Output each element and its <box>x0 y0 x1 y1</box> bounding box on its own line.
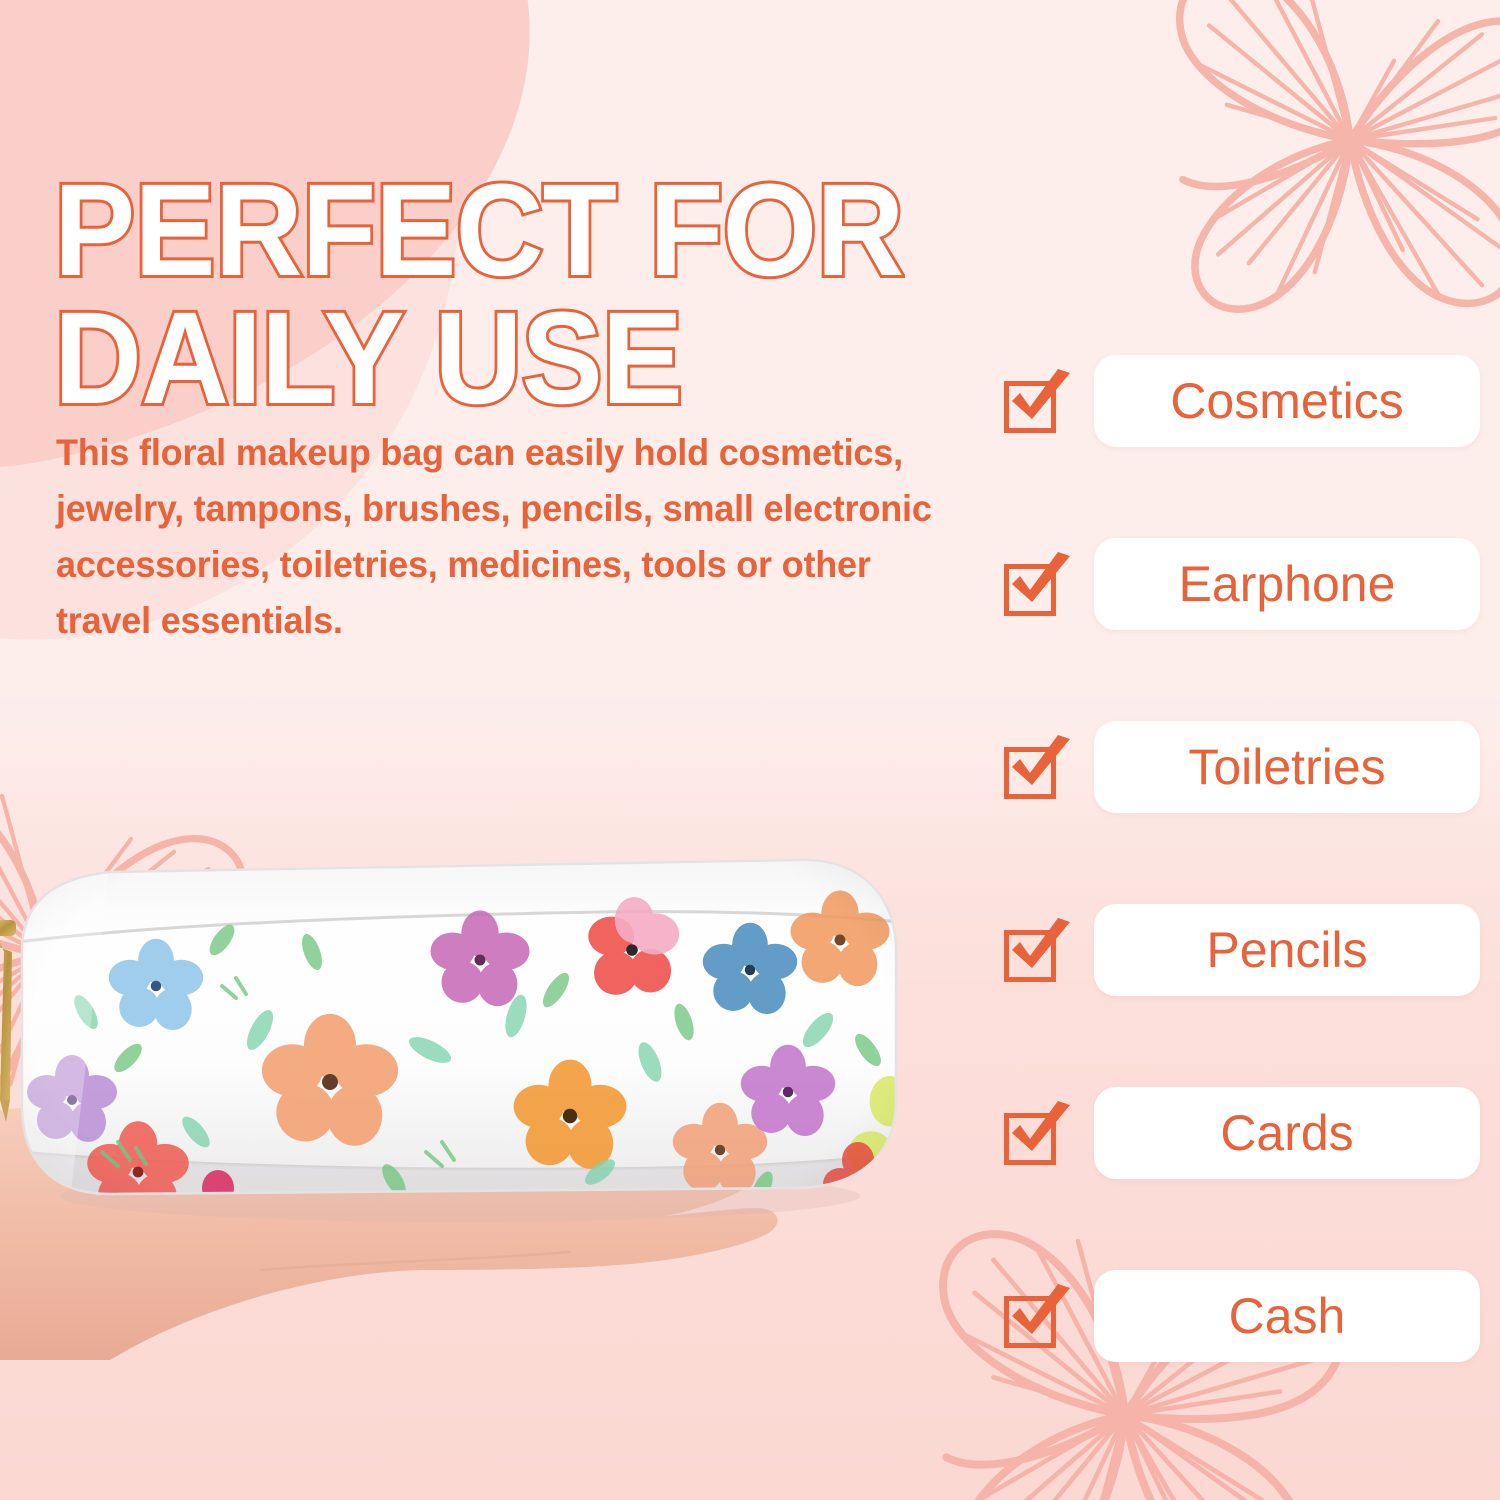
checklist-pill[interactable]: Cards <box>1094 1087 1480 1179</box>
checklist-pill[interactable]: Earphone <box>1094 538 1480 630</box>
checkbox-checked-icon[interactable] <box>1000 1282 1074 1350</box>
hibiscus-flower-icon <box>1130 0 1500 360</box>
checkbox-checked-icon[interactable] <box>1000 1099 1074 1167</box>
checklist-item[interactable]: Pencils <box>1000 901 1480 999</box>
checklist-pill[interactable]: Pencils <box>1094 904 1480 996</box>
zipper-pull <box>0 920 16 1122</box>
checklist-label: Cards <box>1214 1104 1359 1162</box>
checkbox-checked-icon[interactable] <box>1000 367 1074 435</box>
checkbox-checked-icon[interactable] <box>1000 550 1074 618</box>
product-image <box>0 800 970 1360</box>
checklist-item[interactable]: Cash <box>1000 1267 1480 1365</box>
checkbox-checked-icon[interactable] <box>1000 733 1074 801</box>
page-title: PERFECT FOR DAILY USE <box>54 166 965 423</box>
checklist-item[interactable]: Cosmetics <box>1000 352 1480 450</box>
checklist-item[interactable]: Cards <box>1000 1084 1480 1182</box>
checklist-label: Cash <box>1223 1287 1352 1345</box>
checklist-pill[interactable]: Cash <box>1094 1270 1480 1362</box>
checklist-label: Cosmetics <box>1164 372 1409 430</box>
product-feature-poster: PERFECT FOR DAILY USE This floral makeup… <box>0 0 1500 1500</box>
checklist-label: Toiletries <box>1182 738 1391 796</box>
checklist-label: Pencils <box>1200 921 1373 979</box>
feature-checklist: Cosmetics Earphone Toiletries <box>1000 352 1480 1365</box>
checkbox-checked-icon[interactable] <box>1000 916 1074 984</box>
checklist-pill[interactable]: Cosmetics <box>1094 355 1480 447</box>
checklist-item[interactable]: Toiletries <box>1000 718 1480 816</box>
checklist-label: Earphone <box>1173 555 1402 613</box>
checklist-item[interactable]: Earphone <box>1000 535 1480 633</box>
checklist-pill[interactable]: Toiletries <box>1094 721 1480 813</box>
product-description: This floral makeup bag can easily hold c… <box>56 424 963 649</box>
